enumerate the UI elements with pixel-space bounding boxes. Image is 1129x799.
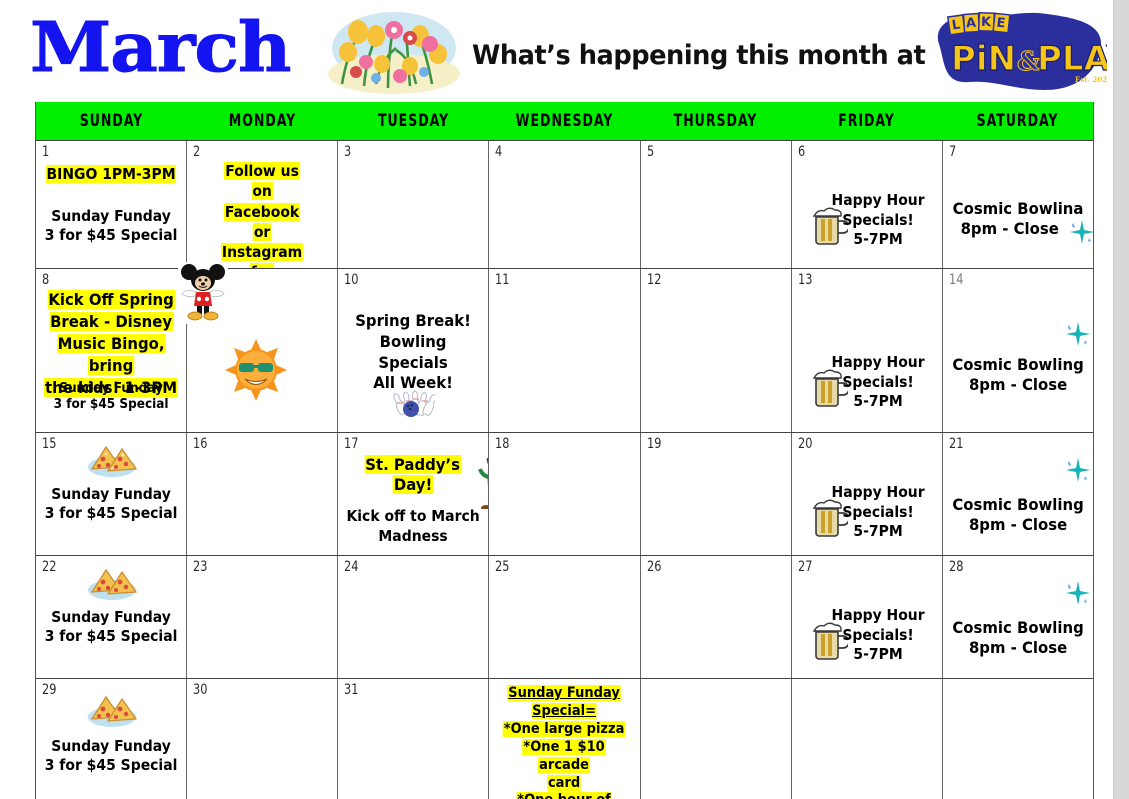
day-cell-13[interactable]: 13 Happy Hour Specials! 5-7PM <box>792 269 943 432</box>
day-cell-31[interactable]: 31 <box>338 679 489 799</box>
logo-est-text: Est. 2024 <box>1075 75 1107 84</box>
day-number: 22 <box>42 559 56 575</box>
dow-saturday: SATURDAY <box>956 102 1080 140</box>
day-cell-29[interactable]: 29 Sunday Funday 3 for $45 Special <box>36 679 187 799</box>
day-number: 7 <box>949 144 956 160</box>
event-happy-hour-line1: Happy Hour <box>818 483 937 503</box>
day-cell-10[interactable]: 10 Spring Break! Bowling Specials All We… <box>338 269 489 432</box>
day-number: 13 <box>798 272 812 288</box>
page-title: March <box>30 6 290 90</box>
event-happy-hour-line1: Happy Hour <box>818 191 937 211</box>
calendar-week-row: 22 Sunday Funday 3 for $45 Special 23 <box>36 555 1093 678</box>
sparkle-star-icon <box>1069 219 1093 245</box>
day-cell-blank-3[interactable] <box>943 679 1093 799</box>
event-cosmic-bowling-line2: 8pm - Close <box>948 219 1088 239</box>
event-special-item2: *One 1 $10 arcade <box>495 739 635 775</box>
event-sunday-funday-line2: 3 for $45 Special <box>41 627 181 646</box>
pizza-slices-icon <box>86 566 138 602</box>
day-number: 27 <box>798 559 812 575</box>
day-cell-blank-1[interactable] <box>641 679 792 799</box>
svg-text:K: K <box>981 15 993 30</box>
dow-friday: FRIDAY <box>805 102 929 140</box>
day-cell-14[interactable]: 14 Cosmic Bowling 8pm - Close <box>943 269 1093 432</box>
mickey-mouse-icon <box>178 262 228 324</box>
day-number: 21 <box>949 436 963 452</box>
day-cell-16[interactable]: 16 <box>187 433 338 555</box>
leprechaun-icon <box>472 451 489 509</box>
calendar-page: March What’s <box>0 0 1113 799</box>
event-special-title-line2: Special= <box>495 703 635 721</box>
day-number: 23 <box>193 559 207 575</box>
header-tagline: What’s happening this month at <box>472 40 925 71</box>
event-sunday-funday-line2: 3 for $45 Special <box>41 504 181 523</box>
day-cell-6[interactable]: 6 Happy Hour Specials! 5-7PM <box>792 141 943 268</box>
bowling-pins-icon <box>389 385 435 417</box>
lake-pin-and-play-logo: L A K E PiN & PLAY Est. 2024 <box>925 8 1107 96</box>
event-happy-hour-line3: 5-7PM <box>818 522 937 542</box>
svg-text:E: E <box>996 16 1006 32</box>
day-number: 5 <box>647 144 654 160</box>
day-cell-24[interactable]: 24 <box>338 556 489 678</box>
day-cell-12[interactable]: 12 <box>641 269 792 432</box>
day-number: 11 <box>495 272 509 288</box>
event-march-madness-line1: Kick off to March <box>344 507 484 527</box>
day-cell-27[interactable]: 27 Happy Hour Specials! 5-7PM <box>792 556 943 678</box>
dow-thursday: THURSDAY <box>654 102 778 140</box>
event-spring-break-line1: Spring Break! <box>344 311 484 332</box>
event-sunday-funday-line1: Sunday Funday <box>41 737 181 756</box>
spring-flowers-icon <box>312 4 472 96</box>
day-number: 30 <box>193 682 207 698</box>
event-special-title-line1: Sunday Funday <box>495 685 635 703</box>
calendar-header: March What’s <box>0 0 1113 102</box>
sparkle-star-icon <box>1065 321 1091 347</box>
dow-monday: MONDAY <box>201 102 325 140</box>
day-cell-20[interactable]: 20 Happy Hour Specials! 5-7PM <box>792 433 943 555</box>
day-cell-18[interactable]: 18 <box>489 433 640 555</box>
event-cosmic-bowling-line2: 8pm - Close <box>948 638 1088 658</box>
day-number: 17 <box>344 436 358 452</box>
day-number: 20 <box>798 436 812 452</box>
event-happy-hour-line2: Specials! <box>818 211 937 231</box>
day-cell-blank-2[interactable] <box>792 679 943 799</box>
event-bingo: BINGO 1PM-3PM <box>41 165 181 184</box>
svg-text:A: A <box>965 16 976 32</box>
event-cosmic-bowling-line1: Cosmic Bowling <box>948 355 1088 375</box>
day-number: 4 <box>495 144 502 160</box>
day-number: 31 <box>344 682 358 698</box>
event-happy-hour-line2: Specials! <box>818 373 937 393</box>
dow-wednesday: WEDNESDAY <box>503 102 627 140</box>
event-sunday-funday-line1: Sunday Funday <box>41 381 181 397</box>
sunglasses-sun-icon <box>225 339 287 401</box>
calendar-week-row: 1 BINGO 1PM-3PM Sunday Funday 3 for $45 … <box>36 140 1093 268</box>
day-cell-5[interactable]: 5 <box>641 141 792 268</box>
event-happy-hour-line1: Happy Hour <box>818 353 937 373</box>
day-number: 16 <box>193 436 207 452</box>
day-cell-21[interactable]: 21 Cosmic Bowling 8pm - Close <box>943 433 1093 555</box>
day-cell-26[interactable]: 26 <box>641 556 792 678</box>
dow-tuesday: TUESDAY <box>352 102 476 140</box>
day-cell-11[interactable]: 11 <box>489 269 640 432</box>
event-march-madness-line2: Madness <box>344 527 484 547</box>
event-cosmic-bowling-line1: Cosmic Bowling <box>948 618 1088 638</box>
event-spring-break-line2: Bowling Specials <box>344 332 484 374</box>
day-number: 24 <box>344 559 358 575</box>
event-happy-hour-line1: Happy Hour <box>818 606 937 626</box>
event-special-item1: *One large pizza <box>495 721 635 739</box>
event-happy-hour-line3: 5-7PM <box>818 392 937 412</box>
event-sunday-funday-line1: Sunday Funday <box>41 608 181 627</box>
day-number: 8 <box>42 272 49 288</box>
day-of-week-header: SUNDAY MONDAY TUESDAY WEDNESDAY THURSDAY… <box>36 102 1093 140</box>
event-happy-hour-line3: 5-7PM <box>818 230 937 250</box>
pizza-slices-icon <box>86 693 138 729</box>
dow-sunday: SUNDAY <box>50 102 174 140</box>
sparkle-star-icon <box>1065 457 1091 483</box>
day-number: 1 <box>42 144 49 160</box>
event-happy-hour-line2: Specials! <box>818 626 937 646</box>
event-sunday-funday-line1: Sunday Funday <box>41 207 181 226</box>
event-special-item3: *One hour of Bowing <box>495 792 635 799</box>
day-number: 12 <box>647 272 661 288</box>
event-sunday-funday-line1: Sunday Funday <box>41 485 181 504</box>
event-happy-hour-line2: Specials! <box>818 503 937 523</box>
event-follow-line2: Facebook or <box>204 202 321 243</box>
calendar-week-row: 15 Sunday Funday 3 for $45 Special <box>36 432 1093 555</box>
sparkle-star-icon <box>1065 580 1091 606</box>
day-cell-2[interactable]: 2 Follow us on Facebook or Instagram for… <box>187 141 338 268</box>
event-special-item2-cont: card <box>495 775 635 793</box>
event-follow-line1: Follow us on <box>204 161 321 202</box>
calendar-grid: SUNDAY MONDAY TUESDAY WEDNESDAY THURSDAY… <box>35 102 1094 799</box>
day-cell-28[interactable]: 28 Cosmic Bowling 8pm - Close <box>943 556 1093 678</box>
day-number: 2 <box>193 144 200 160</box>
day-cell-8[interactable]: 8 Kick Off Spring Break - Disney Music B… <box>36 269 187 432</box>
event-cosmic-bowling-line2: 8pm - Close <box>948 515 1088 535</box>
event-kickoff-line2: Break - Disney <box>41 311 181 333</box>
day-cell-1[interactable]: 1 BINGO 1PM-3PM Sunday Funday 3 for $45 … <box>36 141 187 268</box>
day-number: 29 <box>42 682 56 698</box>
event-sunday-funday-line2: 3 for $45 Special <box>41 756 181 775</box>
event-st-paddys-day: St. Paddy’s Day! <box>344 455 484 495</box>
event-sunday-funday-line2: 3 for $45 Special <box>41 397 181 413</box>
day-cell-23[interactable]: 23 <box>187 556 338 678</box>
event-sunday-funday-line2: 3 for $45 Special <box>41 226 181 245</box>
svg-text:PLAY: PLAY <box>1037 39 1107 79</box>
day-number: 3 <box>344 144 351 160</box>
day-number: 26 <box>647 559 661 575</box>
event-kickoff-line3: Music Bingo, bring <box>41 333 181 377</box>
day-cell-special[interactable]: Sunday Funday Special= *One large pizza … <box>489 679 640 799</box>
event-cosmic-bowling-line1: Cosmic Bowlina <box>948 199 1088 219</box>
day-cell-3[interactable]: 3 <box>338 141 489 268</box>
calendar-week-row: 29 Sunday Funday 3 for $45 Special 30 <box>36 678 1093 799</box>
day-number: 14 <box>949 272 963 288</box>
day-cell-7[interactable]: 7 Cosmic Bowlina 8pm - Close <box>943 141 1093 268</box>
day-number: 10 <box>344 272 358 288</box>
svg-text:PiN: PiN <box>951 39 1016 79</box>
event-cosmic-bowling-line2: 8pm - Close <box>948 375 1088 395</box>
day-number: 28 <box>949 559 963 575</box>
day-number: 19 <box>647 436 661 452</box>
event-kickoff-line1: Kick Off Spring <box>41 289 181 311</box>
day-cell-22[interactable]: 22 Sunday Funday 3 for $45 Special <box>36 556 187 678</box>
day-cell-30[interactable]: 30 <box>187 679 338 799</box>
day-cell-19[interactable]: 19 <box>641 433 792 555</box>
day-number: 18 <box>495 436 509 452</box>
day-number: 25 <box>495 559 509 575</box>
day-cell-25[interactable]: 25 <box>489 556 640 678</box>
day-number: 6 <box>798 144 805 160</box>
day-number: 15 <box>42 436 56 452</box>
event-happy-hour-line3: 5-7PM <box>818 645 937 665</box>
event-cosmic-bowling-line1: Cosmic Bowling <box>948 495 1088 515</box>
pizza-slices-icon <box>86 443 138 479</box>
day-cell-15[interactable]: 15 Sunday Funday 3 for $45 Special <box>36 433 187 555</box>
day-cell-4[interactable]: 4 <box>489 141 640 268</box>
day-cell-17[interactable]: 17 St. Paddy’s Day! Kick off to March Ma… <box>338 433 489 555</box>
